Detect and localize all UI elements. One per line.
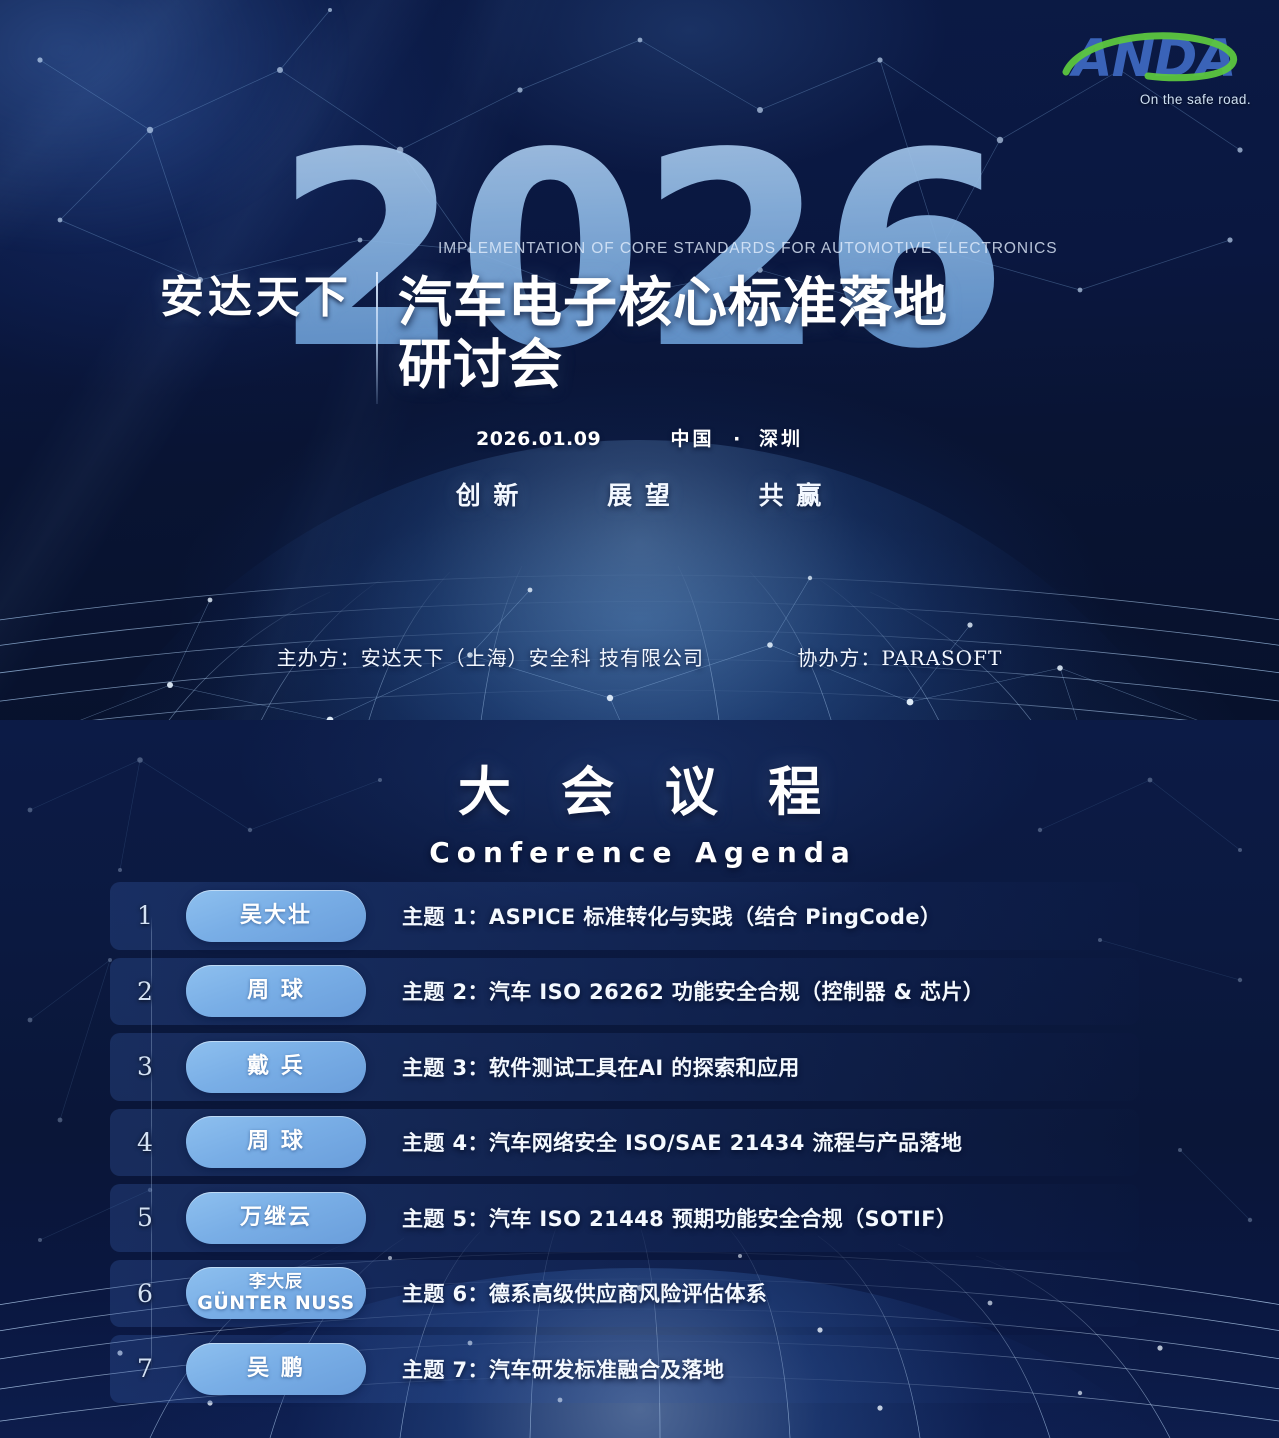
hero-brand-cn: 安达天下 [160, 272, 352, 324]
agenda-title-cn: 大 会 议 程 [0, 750, 1279, 826]
agenda-topic: 主题 7：汽车研发标准融合及落地 [402, 1354, 724, 1384]
agenda-row[interactable]: 3戴 兵主题 3：软件测试工具在AI 的探索和应用 [0, 1029, 1279, 1105]
speaker-pill[interactable]: 周 球 [186, 1116, 366, 1168]
hero-title-block: 安达天下 汽车电子核心标准落地 研讨会 [160, 272, 948, 404]
slogan-word-1: 创 新 [456, 476, 521, 512]
speaker-pill[interactable]: 吴 鹏 [186, 1343, 366, 1395]
agenda-topic: 主题 4：汽车网络安全 ISO/SAE 21434 流程与产品落地 [402, 1127, 962, 1157]
cohost-label: 协办方： [797, 646, 881, 670]
agenda-title-en: Conference Agenda [0, 836, 1279, 869]
speaker-name: 吴大壮 [240, 903, 312, 929]
event-country: 中国 [670, 428, 714, 450]
speaker-pill[interactable]: 万继云 [186, 1192, 366, 1244]
slogan-word-2: 展 望 [607, 476, 672, 512]
agenda-row[interactable]: 6李大辰GÜNTER NUSS主题 6：德系高级供应商风险评估体系 [0, 1256, 1279, 1332]
hero-slogan: 创 新 展 望 共 赢 [0, 476, 1279, 512]
agenda-row-number: 2 [114, 977, 176, 1006]
event-date: 2026.01.09 [476, 428, 601, 450]
host-name: 安达天下（上海）安全科 技有限公司 [361, 646, 704, 670]
agenda-row-number: 1 [114, 901, 176, 930]
hero-sponsors: 主办方：安达天下（上海）安全科 技有限公司 协办方：PARASOFT [0, 642, 1279, 671]
agenda-rows: 1吴大壮主题 1：ASPICE 标准转化与实践（结合 PingCode）2周 球… [0, 878, 1279, 1407]
speaker-name: 戴 兵 [247, 1054, 305, 1080]
speaker-name: 李大辰 [249, 1272, 303, 1292]
separator-dot: · [721, 428, 752, 450]
speaker-pill[interactable]: 李大辰GÜNTER NUSS [186, 1267, 366, 1319]
agenda-heading: 大 会 议 程 Conference Agenda [0, 750, 1279, 869]
speaker-pill[interactable]: 周 球 [186, 965, 366, 1017]
anda-logo-hero: ANDA On the safe road. [1052, 24, 1257, 120]
host-label: 主办方： [277, 646, 361, 670]
agenda-row-number: 3 [114, 1052, 176, 1081]
agenda-row-number: 6 [114, 1279, 176, 1308]
speaker-name: 周 球 [247, 1129, 305, 1155]
hero-date-location: 2026.01.09 中国 · 深圳 [0, 424, 1279, 451]
agenda-row[interactable]: 1吴大壮主题 1：ASPICE 标准转化与实践（结合 PingCode） [0, 878, 1279, 954]
event-city: 深圳 [759, 428, 803, 450]
anda-logo-tagline: On the safe road. [1052, 92, 1257, 107]
speaker-pill[interactable]: 戴 兵 [186, 1041, 366, 1093]
agenda-row-number: 7 [114, 1354, 176, 1383]
agenda-topic: 主题 3：软件测试工具在AI 的探索和应用 [402, 1052, 800, 1082]
agenda-row[interactable]: 2周 球主题 2：汽车 ISO 26262 功能安全合规（控制器 & 芯片） [0, 954, 1279, 1030]
agenda-topic: 主题 5：汽车 ISO 21448 预期功能安全合规（SOTIF） [402, 1203, 957, 1233]
speaker-name: 万继云 [240, 1205, 312, 1231]
hero-title-line1: 汽车电子核心标准落地 [398, 272, 948, 334]
cohost-name: PARASOFT [881, 646, 1002, 670]
speaker-pill[interactable]: 吴大壮 [186, 890, 366, 942]
speaker-name: 吴 鹏 [247, 1356, 305, 1382]
agenda-row-number: 5 [114, 1203, 176, 1232]
speaker-name-en: GÜNTER NUSS [197, 1292, 354, 1314]
agenda-row[interactable]: 7吴 鹏主题 7：汽车研发标准融合及落地 [0, 1331, 1279, 1407]
hero-english-kicker: IMPLEMENTATION OF CORE STANDARDS FOR AUT… [438, 240, 1057, 258]
speaker-name: 周 球 [247, 978, 305, 1004]
conference-poster: 2026 [0, 0, 1279, 1438]
hero-title-line2: 研讨会 [398, 334, 948, 396]
agenda-topic: 主题 2：汽车 ISO 26262 功能安全合规（控制器 & 芯片） [402, 976, 984, 1006]
agenda-row-number: 4 [114, 1128, 176, 1157]
title-divider [376, 272, 378, 404]
agenda-topic: 主题 6：德系高级供应商风险评估体系 [402, 1278, 767, 1308]
agenda-row[interactable]: 5万继云主题 5：汽车 ISO 21448 预期功能安全合规（SOTIF） [0, 1180, 1279, 1256]
agenda-section: 大 会 议 程 Conference Agenda ANDA On the sa… [0, 720, 1279, 1438]
agenda-topic: 主题 1：ASPICE 标准转化与实践（结合 PingCode） [402, 901, 941, 931]
anda-logo-icon: ANDA [1052, 24, 1257, 96]
slogan-word-3: 共 赢 [759, 476, 824, 512]
agenda-row[interactable]: 4周 球主题 4：汽车网络安全 ISO/SAE 21434 流程与产品落地 [0, 1105, 1279, 1181]
hero-section: 2026 [0, 0, 1279, 720]
